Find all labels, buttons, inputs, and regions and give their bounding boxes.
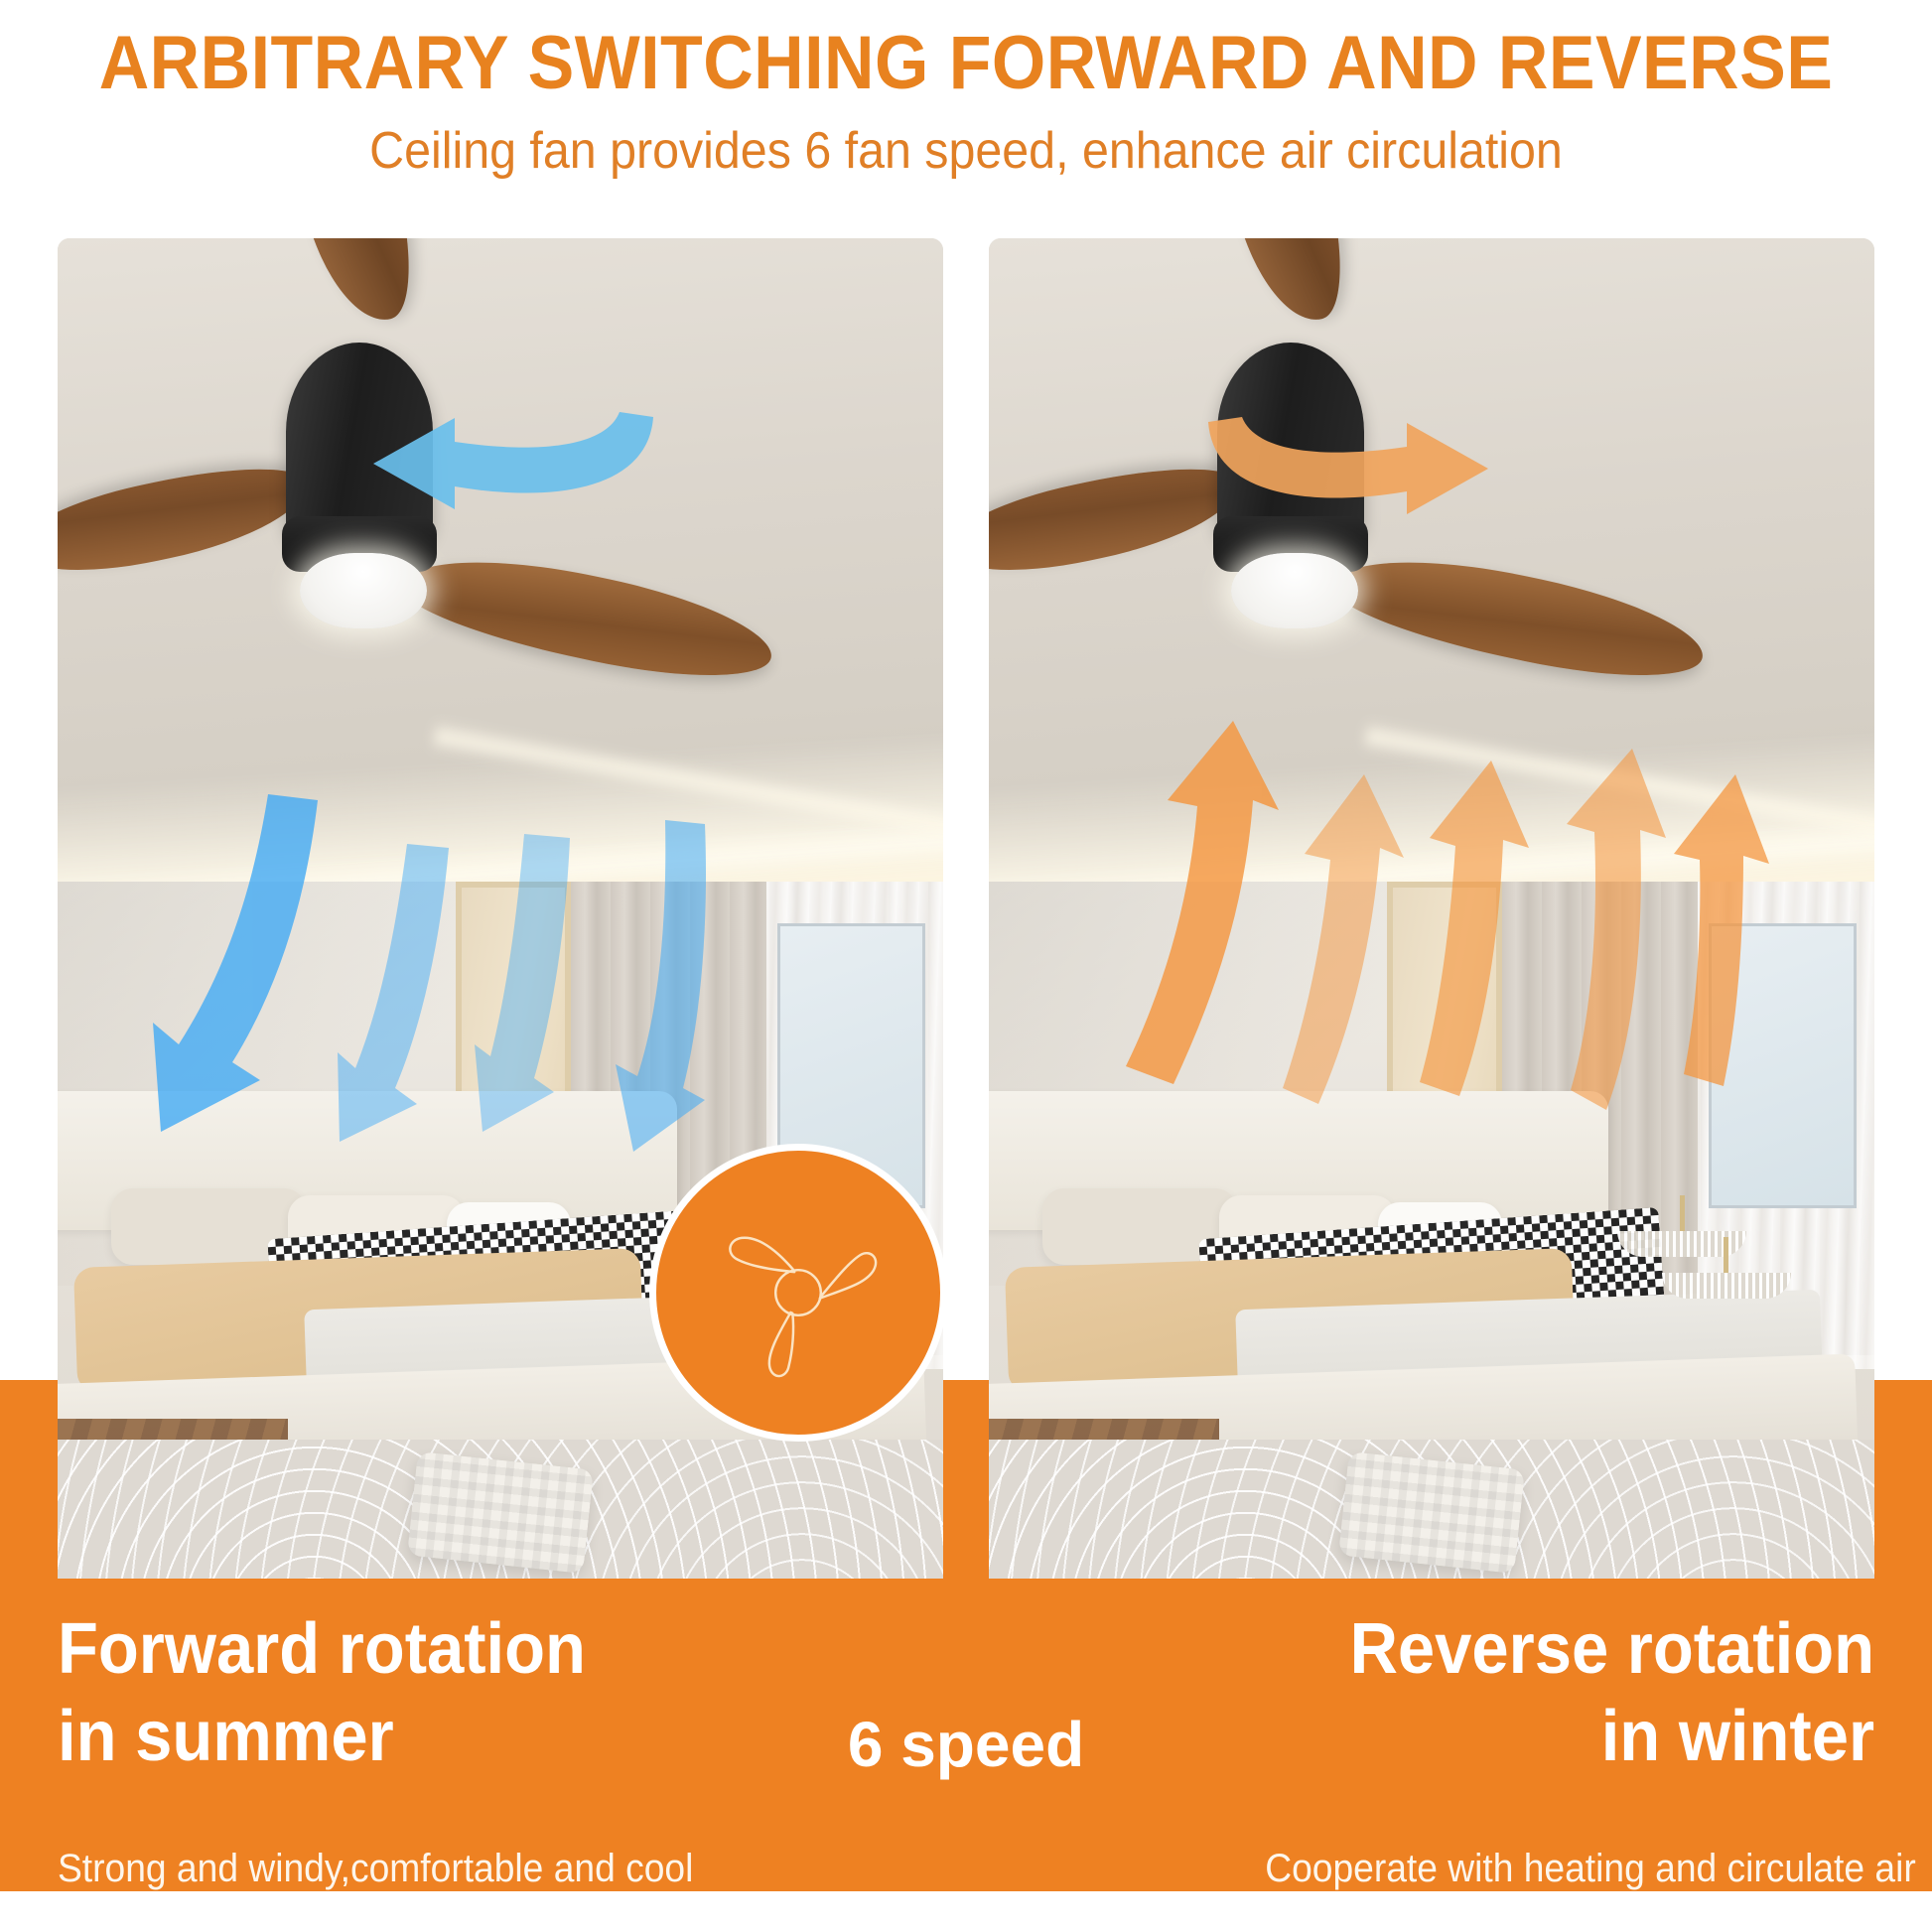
fan-light-disc — [300, 553, 427, 628]
photo-panel-reverse — [989, 238, 1874, 1579]
rotation-arrow-right-icon — [1192, 387, 1609, 541]
fan-light-disc — [1231, 553, 1358, 628]
rotation-arrow-left-icon — [256, 382, 673, 536]
bedroom-scene — [989, 882, 1874, 1579]
speed-label: 6 speed — [0, 1708, 1932, 1781]
fan-propeller-icon — [704, 1198, 893, 1387]
caption-sub-forward: Strong and windy,comfortable and cool — [58, 1847, 648, 1891]
pendant-lamp — [1662, 1237, 1791, 1299]
caption-sub-reverse: Cooperate with heating and circulate air — [1265, 1847, 1874, 1891]
floor-cushion — [407, 1451, 594, 1574]
floor-cushion — [1338, 1451, 1525, 1574]
page-title: ARBITRARY SWITCHING FORWARD AND REVERSE — [77, 0, 1855, 101]
fan-speed-badge — [649, 1144, 947, 1442]
page-subtitle: Ceiling fan provides 6 fan speed, enhanc… — [68, 101, 1864, 177]
product-infographic: ARBITRARY SWITCHING FORWARD AND REVERSE … — [0, 0, 1932, 1932]
window — [1709, 923, 1857, 1208]
header: ARBITRARY SWITCHING FORWARD AND REVERSE … — [0, 0, 1932, 199]
